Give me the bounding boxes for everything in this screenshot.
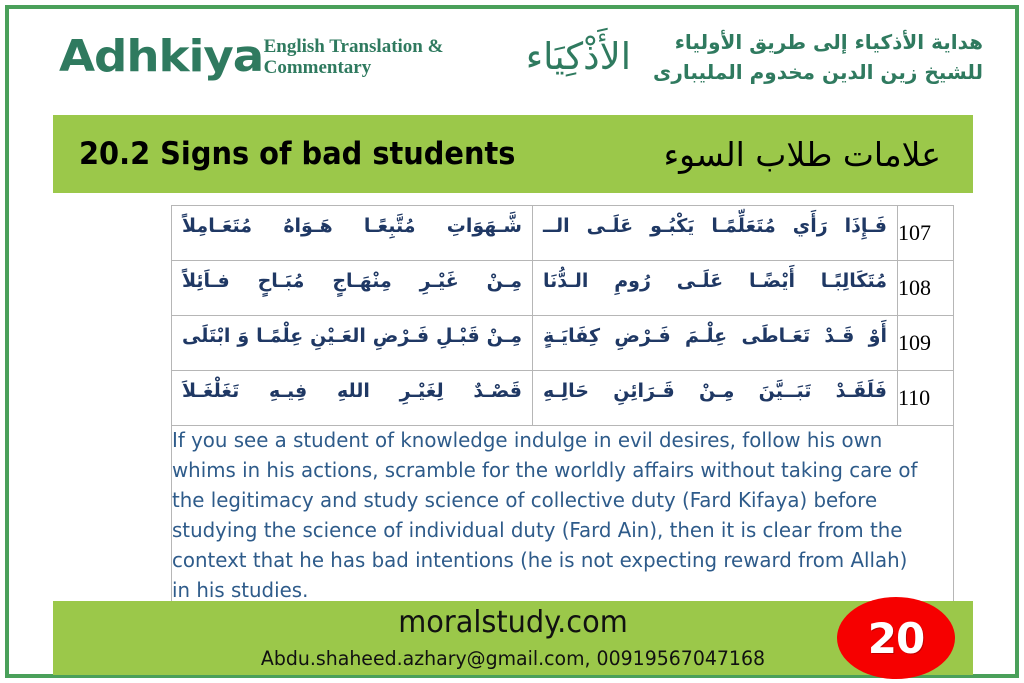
section-title-english: 20.2 Signs of bad students: [79, 136, 515, 172]
verse-hemistich-right: فَـإِذَا رَأَي مُتَعَلِّمًـا يَكْبُـو عَ…: [533, 206, 897, 260]
verse-table-body: شَّـهَوَاتِ مُتَّبِعًـا هَـوَاهُ مُتَعَـ…: [172, 206, 954, 607]
page-number-text: 20: [868, 614, 924, 663]
table-row: قَصْـدٌ لِغَيْـرِ اللهِ فِيـهِ تَغَلْغَـ…: [172, 371, 954, 426]
verse-hemistich-left-cell: قَصْـدٌ لِغَيْـرِ اللهِ فِيـهِ تَغَلْغَـ…: [172, 371, 533, 426]
verse-hemistich-right-cell: أَوْ قَـدْ تَعَـاطَى عِلْـمَ فَـرْضِ كِف…: [533, 316, 898, 371]
footer-contact[interactable]: Abdu.shaheed.azhary@gmail.com, 009195670…: [67, 647, 959, 670]
page-number-badge: 20: [837, 597, 955, 679]
arabic-book-title: هداية الأذكياء إلى طريق الأولياء: [653, 27, 983, 57]
verse-number: 109: [898, 316, 954, 371]
verse-number: 108: [898, 261, 954, 316]
verse-number: 107: [898, 206, 954, 261]
verse-hemistich-left: مِـنْ غَيْـرِ مِنْهَـاجٍ مُبَـاحٍ فـاَئِ…: [172, 261, 532, 315]
page-frame: Adhkiya English Translation & Commentary…: [5, 5, 1019, 678]
page-footer: moralstudy.com Abdu.shaheed.azhary@gmail…: [53, 601, 973, 675]
arabic-subtitle-lines: هداية الأذكياء إلى طريق الأولياء للشيخ ز…: [653, 27, 983, 87]
verse-hemistich-right: أَوْ قَـدْ تَعَـاطَى عِلْـمَ فَـرْضِ كِف…: [533, 316, 897, 370]
verse-hemistich-right-cell: مُتَكَالِبًـا أَيْضًـا عَلَـى رُومِ الـد…: [533, 261, 898, 316]
verse-hemistich-left: شَّـهَوَاتِ مُتَّبِعًـا هَـوَاهُ مُتَعَـ…: [172, 206, 532, 260]
verse-table: شَّـهَوَاتِ مُتَّبِعًـا هَـوَاهُ مُتَعَـ…: [171, 205, 954, 607]
translation-row: If you see a student of knowledge indulg…: [172, 426, 954, 607]
verse-hemistich-right-cell: فَـإِذَا رَأَي مُتَعَلِّمًـا يَكْبُـو عَ…: [533, 206, 898, 261]
footer-website[interactable]: moralstudy.com: [71, 605, 954, 640]
table-row: مِـنْ غَيْـرِ مِنْهَـاجٍ مُبَـاحٍ فـاَئِ…: [172, 261, 954, 316]
brand-subtitle: English Translation & Commentary: [264, 36, 484, 79]
verse-hemistich-right: فَلَقَـدْ تَبَــيَّنَ مِـنْ قَـرَائِنِ ح…: [533, 371, 897, 425]
verse-hemistich-left-cell: مِـنْ غَيْـرِ مِنْهَـاجٍ مُبَـاحٍ فـاَئِ…: [172, 261, 533, 316]
verse-hemistich-right: مُتَكَالِبًـا أَيْضًـا عَلَـى رُومِ الـد…: [533, 261, 897, 315]
verse-hemistich-right-cell: فَلَقَـدْ تَبَــيَّنَ مِـنْ قَـرَائِنِ ح…: [533, 371, 898, 426]
arabic-main-title: الأَذْكِيَاء: [526, 37, 631, 78]
page-content: Adhkiya English Translation & Commentary…: [9, 9, 1015, 674]
verse-hemistich-left: مِـنْ قَبْـلِ فَـرْضِ العَـيْنِ عِلْمًـا…: [172, 316, 532, 370]
section-title-bar: 20.2 Signs of bad students علامات طلاب ا…: [53, 115, 973, 193]
table-row: شَّـهَوَاتِ مُتَّبِعًـا هَـوَاهُ مُتَعَـ…: [172, 206, 954, 261]
table-row: مِـنْ قَبْـلِ فَـرْضِ العَـيْنِ عِلْمًـا…: [172, 316, 954, 371]
translation-text: If you see a student of knowledge indulg…: [172, 426, 926, 606]
verse-hemistich-left-cell: شَّـهَوَاتِ مُتَّبِعًـا هَـوَاهُ مُتَعَـ…: [172, 206, 533, 261]
translation-cell: If you see a student of knowledge indulg…: [172, 426, 954, 607]
verse-hemistich-left-cell: مِـنْ قَبْـلِ فَـرْضِ العَـيْنِ عِلْمًـا…: [172, 316, 533, 371]
brand-logo: Adhkiya English Translation & Commentary: [59, 35, 484, 79]
slide-page: Adhkiya English Translation & Commentary…: [0, 0, 1024, 683]
verse-hemistich-left: قَصْـدٌ لِغَيْـرِ اللهِ فِيـهِ تَغَلْغَـ…: [172, 371, 532, 425]
section-title-arabic: علامات طلاب السوء: [664, 135, 947, 174]
arabic-author-line: للشيخ زين الدين مخدوم المليبارى: [653, 57, 983, 87]
page-header: Adhkiya English Translation & Commentary…: [21, 19, 1003, 111]
brand-wordmark: Adhkiya: [59, 35, 263, 79]
verse-number: 110: [898, 371, 954, 426]
arabic-header-group: هداية الأذكياء إلى طريق الأولياء للشيخ ز…: [526, 27, 983, 87]
